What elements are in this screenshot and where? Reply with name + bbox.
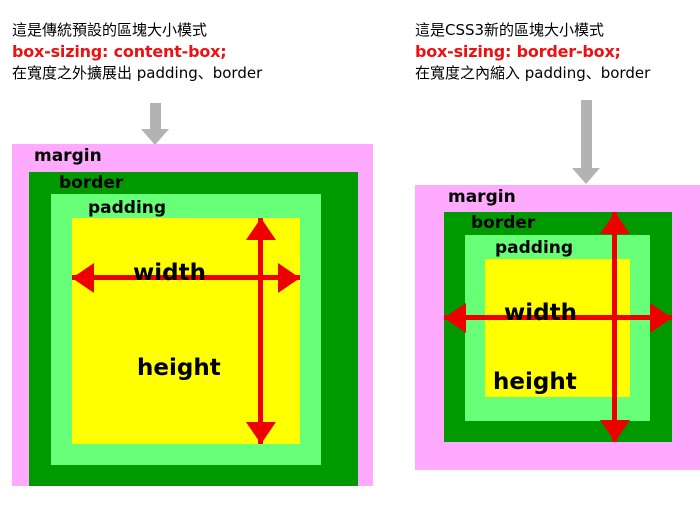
width-arrow-right-head bbox=[278, 263, 300, 293]
caption-right-code: box-sizing: border-box; bbox=[415, 41, 650, 63]
height-arrow bbox=[612, 212, 617, 442]
caption-right-line3: 在寬度之內縮入 padding、border bbox=[415, 63, 650, 84]
height-label: height bbox=[493, 371, 577, 394]
border-label: border bbox=[471, 215, 535, 232]
border-label: border bbox=[59, 175, 123, 192]
box-model-diagram-border-box: margin border padding width height bbox=[415, 185, 700, 470]
padding-label: padding bbox=[88, 200, 166, 217]
gray-arrow-shaft bbox=[150, 103, 161, 130]
content-layer bbox=[72, 218, 300, 444]
padding-label: padding bbox=[495, 240, 573, 257]
height-arrow-bottom-head bbox=[246, 422, 276, 444]
margin-label: margin bbox=[448, 189, 516, 206]
caption-left-code: box-sizing: content-box; bbox=[12, 41, 262, 63]
gray-arrow-shaft bbox=[581, 100, 592, 169]
margin-label: margin bbox=[34, 148, 102, 165]
caption-left-line3: 在寬度之外擴展出 padding、border bbox=[12, 63, 262, 84]
height-arrow-bottom-head bbox=[600, 420, 630, 442]
height-label: height bbox=[137, 357, 221, 380]
width-label: width bbox=[504, 302, 577, 325]
height-arrow-bar bbox=[258, 218, 263, 444]
height-arrow bbox=[258, 218, 263, 444]
height-arrow-top-head bbox=[600, 212, 630, 234]
width-label: width bbox=[133, 262, 206, 285]
caption-content-box: 這是傳統預設的區塊大小模式 box-sizing: content-box; 在… bbox=[12, 20, 262, 83]
height-arrow-bar bbox=[612, 212, 617, 442]
caption-left-line1: 這是傳統預設的區塊大小模式 bbox=[12, 20, 262, 41]
height-arrow-top-head bbox=[246, 218, 276, 240]
caption-border-box: 這是CSS3新的區塊大小模式 box-sizing: border-box; 在… bbox=[415, 20, 650, 83]
width-arrow-left-head bbox=[444, 303, 466, 333]
caption-right-line1: 這是CSS3新的區塊大小模式 bbox=[415, 20, 650, 41]
gray-arrow-head bbox=[572, 168, 600, 184]
box-model-diagram-content-box: margin border padding width height bbox=[12, 144, 373, 486]
gray-arrow-head bbox=[141, 129, 169, 145]
width-arrow-left-head bbox=[72, 263, 94, 293]
width-arrow-right-head bbox=[650, 303, 672, 333]
